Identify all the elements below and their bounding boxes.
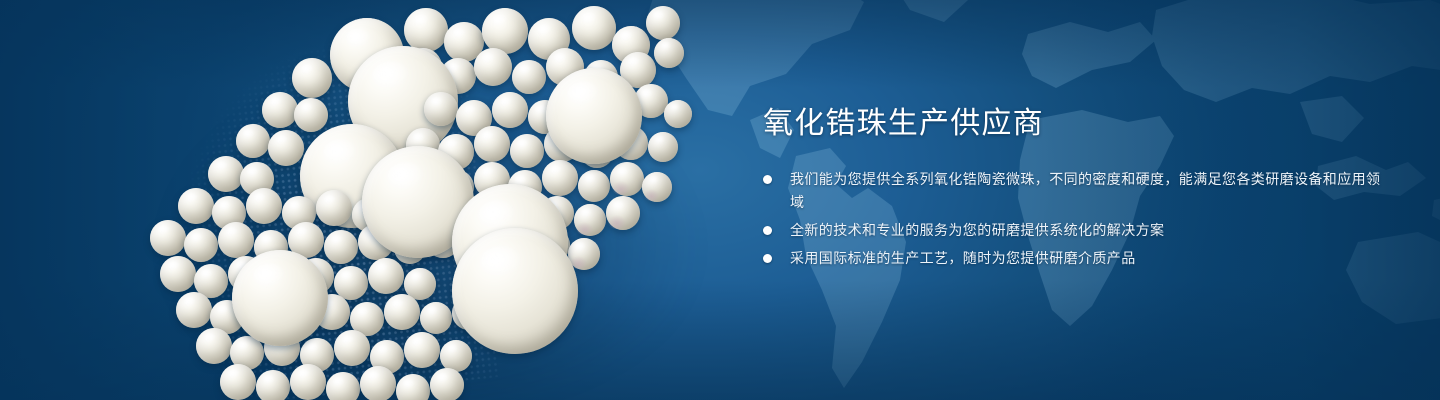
bead (578, 170, 610, 202)
bullet-dot-icon (763, 226, 772, 235)
bead (420, 302, 452, 334)
bead (424, 92, 458, 126)
list-item: 全新的技术和专业的服务为您的研磨提供系统化的解决方案 (763, 219, 1383, 242)
hero-banner: 氧化锆珠生产供应商 我们能为您提供全系列氧化锆陶瓷微珠，不同的密度和硬度，能满足… (0, 0, 1440, 400)
bead (262, 92, 298, 128)
feature-list: 我们能为您提供全系列氧化锆陶瓷微珠，不同的密度和硬度，能满足您各类研磨设备和应用… (763, 168, 1383, 270)
bead (384, 294, 420, 330)
bead (512, 60, 546, 94)
bead (294, 98, 328, 132)
bead (176, 292, 212, 328)
bead (218, 222, 254, 258)
bead (150, 220, 186, 256)
bead (290, 364, 326, 400)
bead (474, 48, 512, 86)
bead (246, 188, 282, 224)
bead (178, 188, 214, 224)
bead (236, 124, 270, 158)
list-item: 我们能为您提供全系列氧化锆陶瓷微珠，不同的密度和硬度，能满足您各类研磨设备和应用… (763, 168, 1383, 214)
bead (606, 196, 640, 230)
bead (334, 330, 370, 366)
bead (324, 230, 358, 264)
bead (196, 328, 232, 364)
list-item-label: 采用国际标准的生产工艺，随时为您提供研磨介质产品 (790, 247, 1383, 270)
bead (642, 172, 672, 202)
banner-content: 氧化锆珠生产供应商 我们能为您提供全系列氧化锆陶瓷微珠，不同的密度和硬度，能满足… (763, 104, 1383, 275)
bead (430, 368, 464, 400)
bead (546, 68, 642, 164)
bead (360, 366, 396, 400)
page-title: 氧化锆珠生产供应商 (763, 104, 1383, 144)
bead (572, 6, 616, 50)
bead (208, 156, 244, 192)
bead (646, 6, 680, 40)
bead (664, 100, 692, 128)
bead (452, 228, 578, 354)
bead (368, 258, 404, 294)
bead (404, 332, 440, 368)
list-item-label: 我们能为您提供全系列氧化锆陶瓷微珠，不同的密度和硬度，能满足您各类研磨设备和应用… (790, 168, 1383, 214)
bead (232, 250, 328, 346)
bead (220, 364, 256, 400)
list-item-label: 全新的技术和专业的服务为您的研磨提供系统化的解决方案 (790, 219, 1383, 242)
bead (292, 58, 332, 98)
bead (654, 38, 684, 68)
bead (316, 190, 352, 226)
bead (404, 8, 448, 52)
list-item: 采用国际标准的生产工艺，随时为您提供研磨介质产品 (763, 247, 1383, 270)
bead (542, 160, 578, 196)
bead (648, 132, 678, 162)
bead (160, 256, 196, 292)
bead (184, 228, 218, 262)
bead (482, 8, 528, 54)
zirconia-beads-image (0, 0, 760, 400)
bead (610, 162, 644, 196)
bead (492, 92, 528, 128)
bead (396, 374, 430, 400)
bead (326, 372, 360, 400)
bead (256, 370, 290, 400)
bead (474, 126, 510, 162)
bead (268, 130, 304, 166)
bead (510, 134, 544, 168)
bead (574, 204, 606, 236)
bullet-dot-icon (763, 175, 772, 184)
bullet-dot-icon (763, 254, 772, 263)
